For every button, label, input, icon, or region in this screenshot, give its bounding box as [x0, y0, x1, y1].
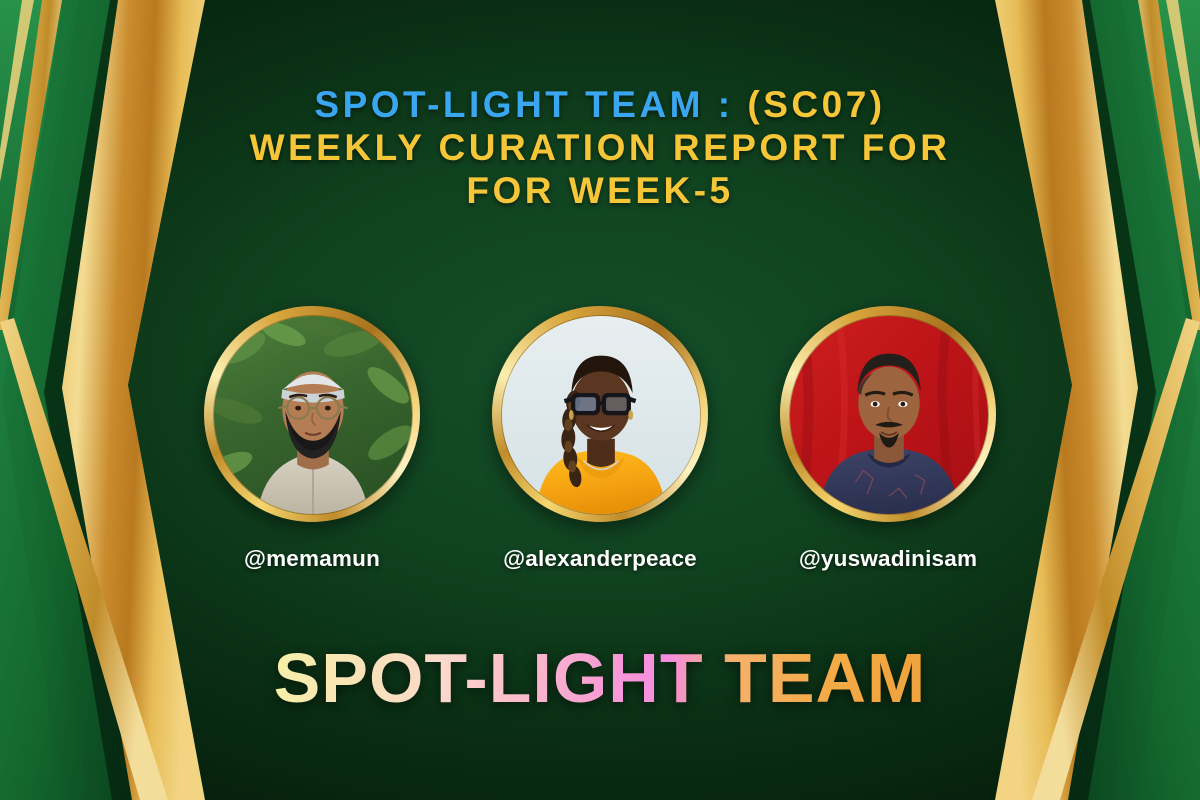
member-card: @alexanderpeace: [492, 306, 708, 572]
avatar-photo-memamun: [213, 315, 413, 515]
avatar-ring: [492, 306, 708, 522]
headline-block: SPOT-LIGHT TEAM : (SC07) WEEKLY CURATION…: [0, 84, 1200, 213]
poster-canvas: SPOT-LIGHT TEAM : (SC07) WEEKLY CURATION…: [0, 0, 1200, 800]
headline-line-1: SPOT-LIGHT TEAM : (SC07): [0, 84, 1200, 127]
member-handle: @yuswadinisam: [799, 546, 977, 572]
headline-line-3: FOR WEEK-5: [0, 170, 1200, 213]
avatar-ring: [780, 306, 996, 522]
member-row: @memamun: [0, 306, 1200, 572]
brand-wordmark: SPOT-LIGHT TEAM: [0, 638, 1200, 718]
member-card: @memamun: [204, 306, 420, 572]
headline-line-2: WEEKLY CURATION REPORT FOR: [0, 127, 1200, 170]
avatar-photo-yuswadinisam: [789, 315, 989, 515]
member-card: @yuswadinisam: [780, 306, 996, 572]
headline-season-code: (SC07): [747, 84, 885, 125]
member-handle: @memamun: [244, 546, 380, 572]
headline-team-label: SPOT-LIGHT TEAM :: [314, 84, 733, 125]
avatar-photo-alexanderpeace: [501, 315, 701, 515]
brand-wordmark-text: SPOT-LIGHT TEAM: [274, 639, 927, 717]
member-handle: @alexanderpeace: [503, 546, 697, 572]
avatar-ring: [204, 306, 420, 522]
